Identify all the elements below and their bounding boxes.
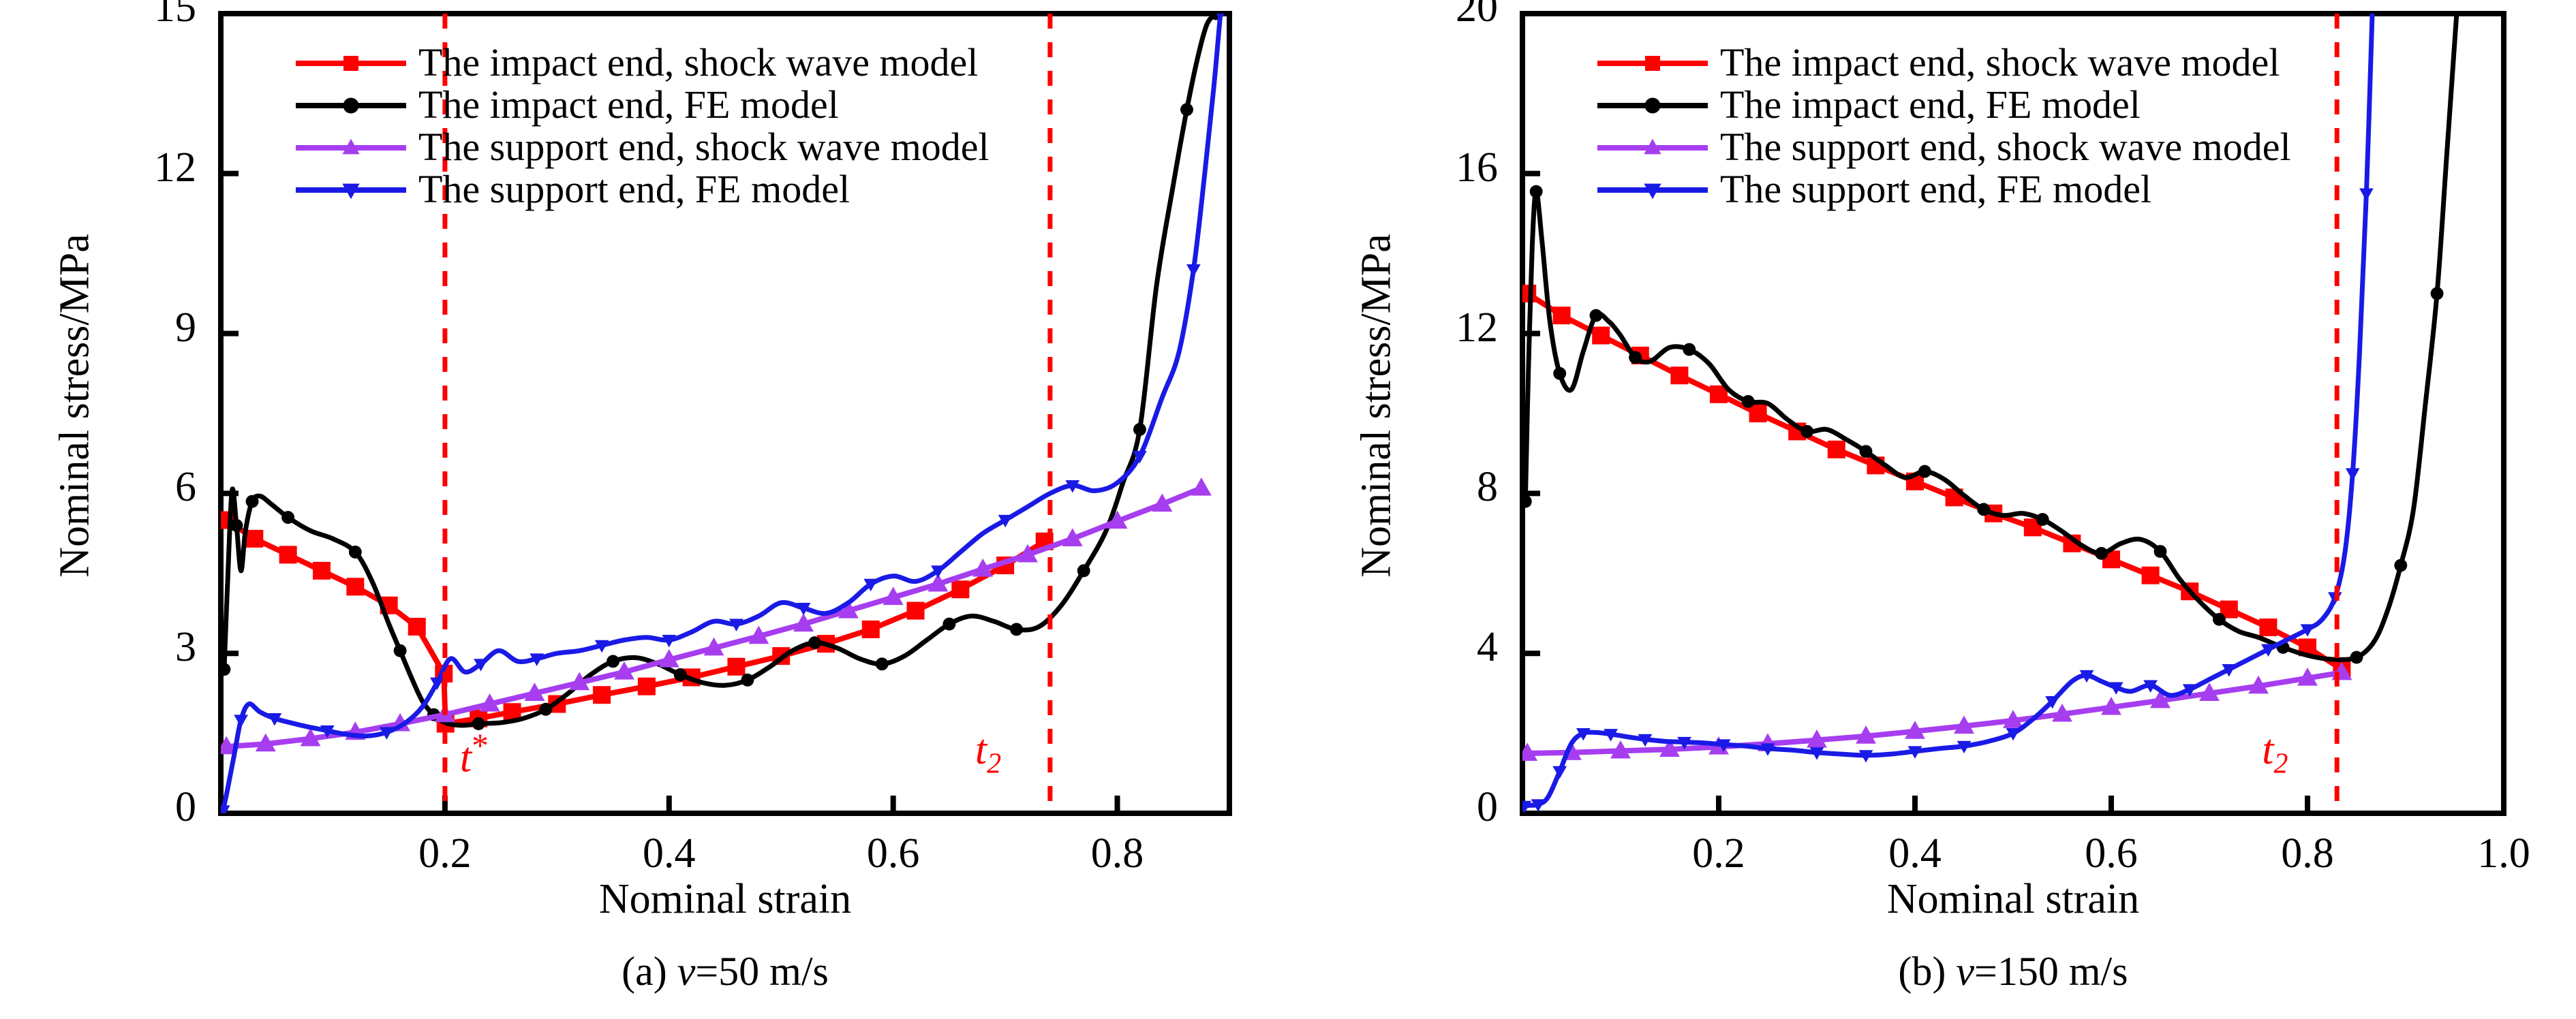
legend-item-3[interactable]: The support end, FE model xyxy=(293,168,990,210)
legend-label: The support end, shock wave model xyxy=(418,124,990,170)
legend-label: The impact end, shock wave model xyxy=(1720,40,2280,85)
y-tick-label: 6 xyxy=(80,463,196,512)
panel-a-caption-suffix: =50 m/s xyxy=(695,949,829,994)
x-tick-label: 0.6 xyxy=(818,830,968,878)
annotation-symbol: t xyxy=(2262,727,2273,773)
annotation-superscript: * xyxy=(472,727,489,764)
panel-b-y-axis-label: Nominal stress/MPa xyxy=(1353,195,1401,617)
y-tick-label: 12 xyxy=(1382,304,1498,352)
x-tick-label: 0.2 xyxy=(1644,830,1794,878)
legend-marker-circle-icon xyxy=(1595,91,1711,118)
y-tick-label: 0 xyxy=(1382,783,1498,832)
figure-container: Nominal stress/MPa 03691215 0.20.40.60.8… xyxy=(0,0,2576,1019)
legend-marker-triangle-up-icon xyxy=(1595,133,1711,160)
legend-label: The impact end, FE model xyxy=(1720,82,2141,127)
x-tick-label: 0.8 xyxy=(2233,830,2382,878)
legend-label: The support end, FE model xyxy=(418,166,850,212)
panel-a-y-axis-label: Nominal stress/MPa xyxy=(51,195,99,617)
chart-panel-b: Nominal stress/MPa 048121620 0.20.40.60.… xyxy=(1288,0,2576,1019)
panel-b-caption-variable: v xyxy=(1956,949,1974,994)
annotation-t-star: t* xyxy=(460,726,489,783)
annotation-symbol: t xyxy=(460,735,472,781)
legend-item-1[interactable]: The impact end, FE model xyxy=(1595,83,2291,125)
panel-a-legend: The impact end, shock wave modelThe impa… xyxy=(293,41,990,210)
legend-item-0[interactable]: The impact end, shock wave model xyxy=(1595,41,2291,83)
y-tick-label: 8 xyxy=(1382,463,1498,512)
legend-marker-square-icon xyxy=(1595,48,1711,76)
legend-item-1[interactable]: The impact end, FE model xyxy=(293,83,990,125)
x-tick-label: 1.0 xyxy=(2429,830,2576,878)
y-tick-label: 0 xyxy=(80,783,196,832)
legend-label: The support end, FE model xyxy=(1720,166,2151,212)
y-tick-label: 12 xyxy=(80,144,196,192)
panel-a-caption: (a) v=50 m/s xyxy=(217,948,1233,995)
y-tick-label: 3 xyxy=(80,623,196,672)
x-tick-label: 0.8 xyxy=(1043,830,1193,878)
legend-item-0[interactable]: The impact end, shock wave model xyxy=(293,41,990,83)
x-tick-label: 0.2 xyxy=(370,830,520,878)
panel-b-caption-suffix: =150 m/s xyxy=(1974,949,2128,994)
legend-marker-triangle-up-icon xyxy=(293,133,409,160)
chart-panel-a: Nominal stress/MPa 03691215 0.20.40.60.8… xyxy=(0,0,1288,1019)
y-tick-label: 20 xyxy=(1382,0,1498,32)
panel-b-legend: The impact end, shock wave modelThe impa… xyxy=(1595,41,2291,210)
legend-item-2[interactable]: The support end, shock wave model xyxy=(293,125,990,168)
y-tick-label: 15 xyxy=(80,0,196,32)
panel-a-caption-prefix: (a) xyxy=(622,949,677,994)
annotation-t-two: t2 xyxy=(2262,726,2288,780)
legend-marker-triangle-down-icon xyxy=(1595,175,1711,202)
panel-b-caption-prefix: (b) xyxy=(1898,949,1956,994)
y-tick-label: 16 xyxy=(1382,144,1498,192)
panel-b-x-axis-label: Nominal strain xyxy=(1518,875,2508,924)
legend-marker-circle-icon xyxy=(293,91,409,118)
y-tick-label: 9 xyxy=(80,304,196,352)
x-tick-label: 0.4 xyxy=(1840,830,1990,878)
legend-label: The impact end, shock wave model xyxy=(418,40,978,85)
legend-label: The support end, shock wave model xyxy=(1720,124,2291,170)
panel-a-caption-variable: v xyxy=(677,949,696,994)
annotation-subscript: 2 xyxy=(987,747,1001,779)
legend-marker-square-icon xyxy=(293,48,409,76)
x-tick-label: 0.4 xyxy=(594,830,744,878)
panel-a-x-axis-label: Nominal strain xyxy=(217,875,1233,924)
annotation-symbol: t xyxy=(975,727,987,773)
legend-marker-triangle-down-icon xyxy=(293,175,409,202)
y-tick-label: 4 xyxy=(1382,623,1498,672)
panel-b-caption: (b) v=150 m/s xyxy=(1518,948,2508,995)
legend-item-2[interactable]: The support end, shock wave model xyxy=(1595,125,2291,168)
annotation-subscript: 2 xyxy=(2273,747,2288,779)
legend-label: The impact end, FE model xyxy=(418,82,839,127)
legend-item-3[interactable]: The support end, FE model xyxy=(1595,168,2291,210)
annotation-t-two: t2 xyxy=(975,726,1001,780)
x-tick-label: 0.6 xyxy=(2036,830,2186,878)
